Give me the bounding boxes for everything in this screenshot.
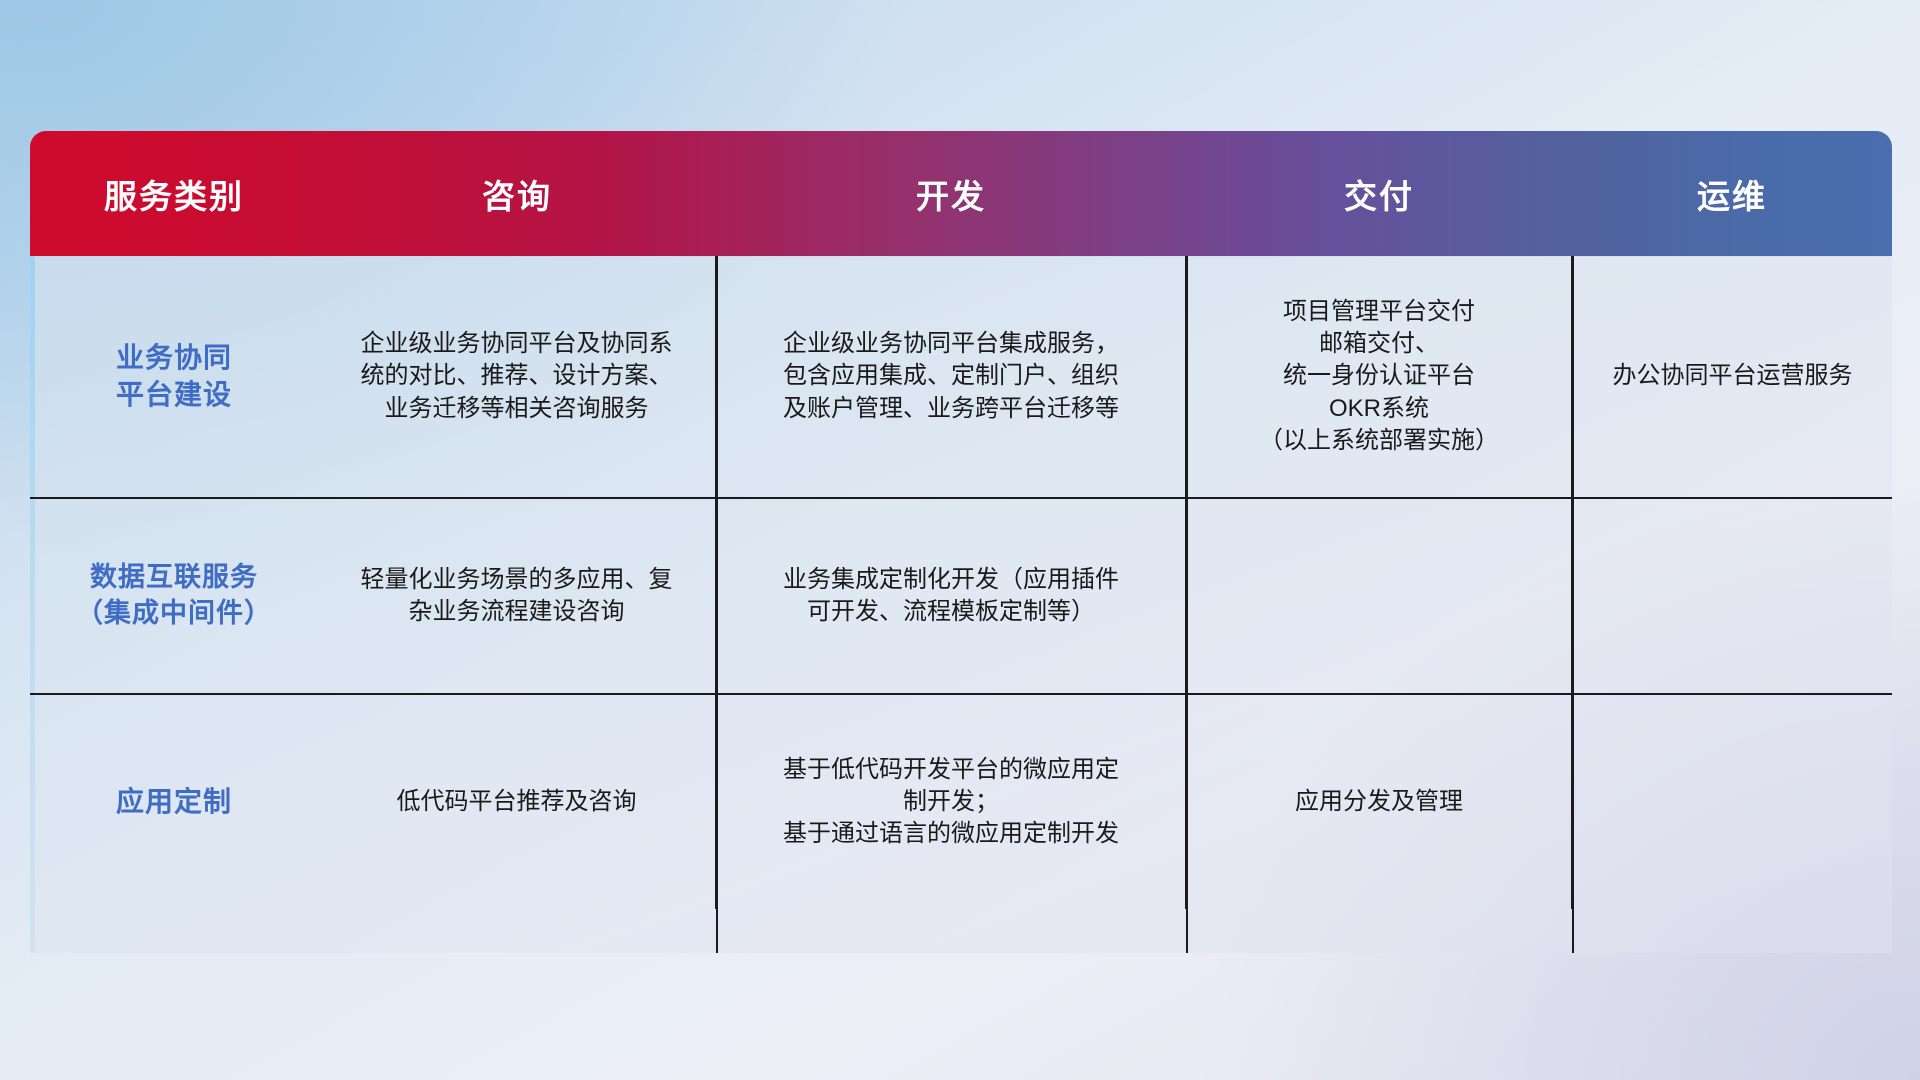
cell-operations: 办公协同平台运营服务: [1572, 256, 1892, 498]
table-row: 数据互联服务 （集成中间件） 轻量化业务场景的多应用、复 杂业务流程建设咨询 业…: [30, 498, 1892, 694]
cell-operations: [1572, 498, 1892, 694]
header-cell-delivery[interactable]: 交付: [1186, 131, 1572, 256]
header-cell-service-category[interactable]: 服务类别: [30, 131, 318, 256]
table-row: 应用定制 低代码平台推荐及咨询 基于低代码开发平台的微应用定 制开发； 基于通过…: [30, 694, 1892, 909]
table-head: 服务类别 咨询 开发 交付 运维: [30, 131, 1892, 256]
slide-canvas: 服务类别 咨询 开发 交付 运维 业务协同 平台建设 企业级业务协同平台及协同系…: [0, 0, 1920, 1080]
cell-delivery: [1186, 498, 1572, 694]
cell-delivery: 项目管理平台交付 邮箱交付、 统一身份认证平台 OKR系统 （以上系统部署实施）: [1186, 256, 1572, 498]
service-matrix-table-wrapper: 服务类别 咨询 开发 交付 运维 业务协同 平台建设 企业级业务协同平台及协同系…: [30, 131, 1892, 909]
cell-consulting: 轻量化业务场景的多应用、复 杂业务流程建设咨询: [318, 498, 716, 694]
cell-operations: [1572, 694, 1892, 909]
cell-development: 业务集成定制化开发（应用插件 可开发、流程模板定制等）: [716, 498, 1186, 694]
cell-development: 企业级业务协同平台集成服务， 包含应用集成、定制门户、组织 及账户管理、业务跨平…: [716, 256, 1186, 498]
row-category-label: 应用定制: [30, 694, 318, 909]
row-category-label: 数据互联服务 （集成中间件）: [30, 498, 318, 694]
header-cell-development[interactable]: 开发: [716, 131, 1186, 256]
row-category-label: 业务协同 平台建设: [30, 256, 318, 498]
header-row: 服务类别 咨询 开发 交付 运维: [30, 131, 1892, 256]
table-body: 业务协同 平台建设 企业级业务协同平台及协同系 统的对比、推荐、设计方案、 业务…: [30, 256, 1892, 909]
table-row: 业务协同 平台建设 企业级业务协同平台及协同系 统的对比、推荐、设计方案、 业务…: [30, 256, 1892, 498]
cell-consulting: 低代码平台推荐及咨询: [318, 694, 716, 909]
cell-development: 基于低代码开发平台的微应用定 制开发； 基于通过语言的微应用定制开发: [716, 694, 1186, 909]
header-cell-operations[interactable]: 运维: [1572, 131, 1892, 256]
header-cell-consulting[interactable]: 咨询: [318, 131, 716, 256]
cell-delivery: 应用分发及管理: [1186, 694, 1572, 909]
cell-consulting: 企业级业务协同平台及协同系 统的对比、推荐、设计方案、 业务迁移等相关咨询服务: [318, 256, 716, 498]
service-matrix-table: 服务类别 咨询 开发 交付 运维 业务协同 平台建设 企业级业务协同平台及协同系…: [30, 131, 1892, 909]
